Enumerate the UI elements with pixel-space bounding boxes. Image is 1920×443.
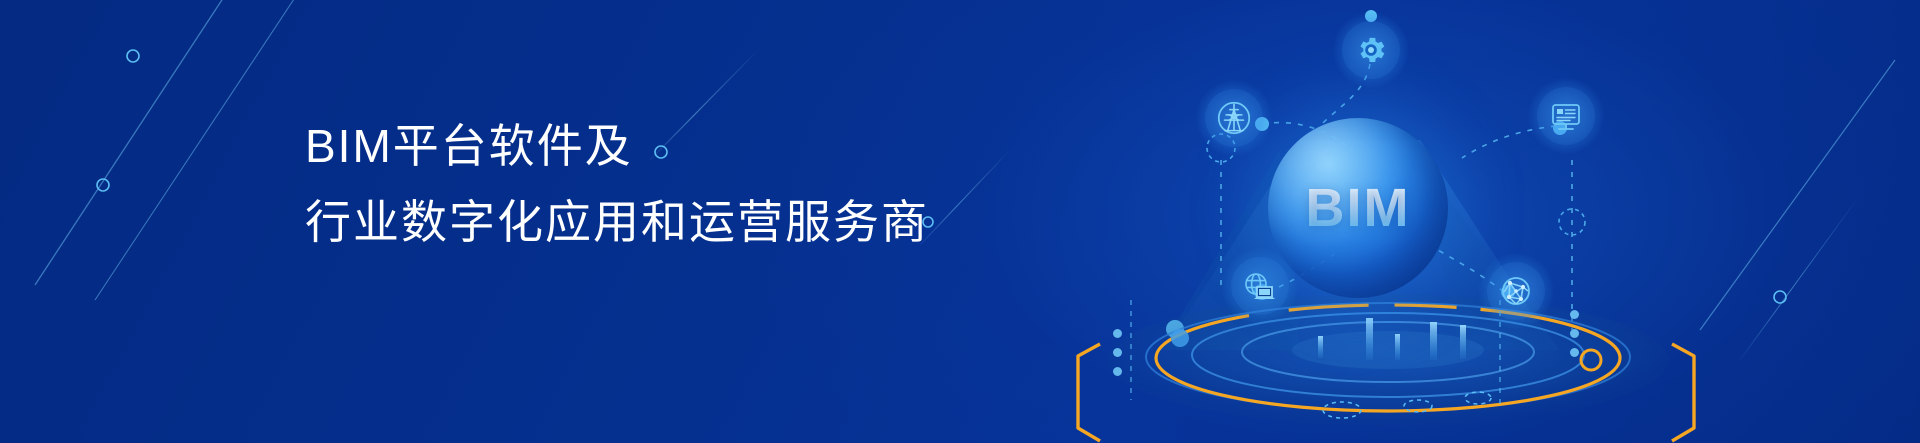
node-network [1478, 253, 1554, 329]
dot-column-left [1113, 329, 1122, 376]
page-title: BIM平台软件及 行业数字化应用和运营服务商 [305, 108, 945, 260]
hero-banner: BIM平台软件及 行业数字化应用和运营服务商 BIM [0, 0, 1920, 443]
data-bars [1318, 318, 1466, 360]
bracket-frames [1078, 344, 1694, 441]
dot [1113, 348, 1122, 357]
headline-line-2: 行业数字化应用和运营服务商 [305, 184, 945, 260]
dot [1113, 329, 1122, 338]
dot-column-right [1570, 310, 1579, 357]
dot [1113, 367, 1122, 376]
dot [1570, 329, 1579, 338]
power-tower-icon [1213, 97, 1255, 139]
ring-markers [1323, 392, 1491, 418]
bracket-circle [1581, 350, 1601, 370]
globe-laptop-icon [1239, 266, 1281, 306]
node-globe-laptop [1222, 248, 1298, 324]
dot [1570, 348, 1579, 357]
node-power-tower [1196, 80, 1272, 156]
node-monitor [1528, 78, 1604, 154]
node-gear [1333, 12, 1409, 88]
monitor-icon [1546, 96, 1586, 136]
gear-icon [1354, 33, 1388, 67]
decorative-lines-background [0, 0, 1920, 443]
bim-label: BIM [1306, 177, 1411, 239]
network-globe-icon [1496, 271, 1536, 311]
radar-base [1078, 294, 1694, 441]
dot [1570, 310, 1579, 319]
accent-ring [1156, 305, 1620, 411]
vertical-guides [1131, 300, 1500, 410]
base-dot [1171, 329, 1189, 347]
headline-line-1: BIM平台软件及 [305, 108, 945, 184]
